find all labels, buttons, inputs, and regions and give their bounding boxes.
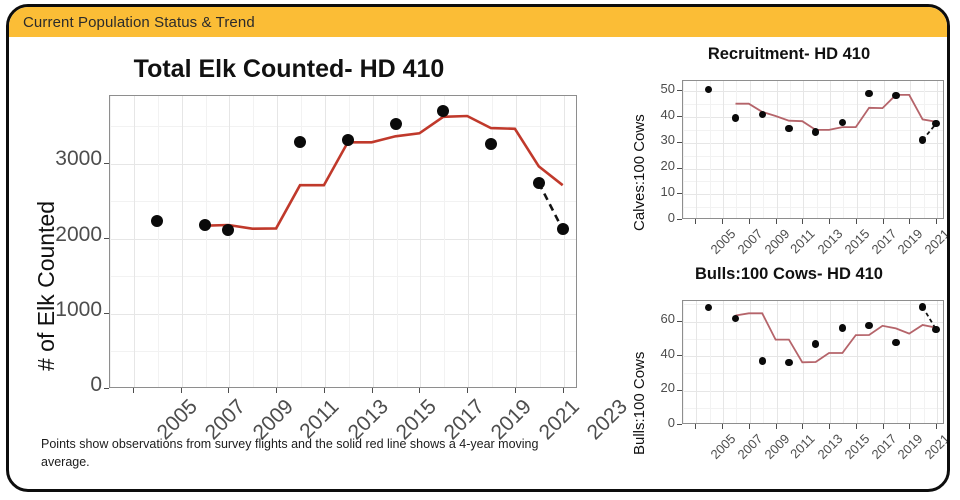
x-tick-mark (563, 388, 564, 393)
x-tick-mark (181, 388, 182, 393)
x-tick-label: 2023 (948, 431, 950, 462)
y-tick-label: 50 (649, 81, 675, 96)
data-point (932, 326, 939, 333)
x-tick-mark (802, 219, 803, 224)
data-point (437, 105, 449, 117)
x-tick-mark (802, 424, 803, 429)
data-point (785, 125, 792, 132)
x-tick-label: 2023 (948, 226, 950, 257)
trend-line (736, 313, 937, 362)
page-title: Current Population Status & Trend (9, 14, 255, 31)
y-tick-label: 40 (649, 346, 675, 361)
y-tick-label: 40 (649, 107, 675, 122)
y-tick-mark (104, 238, 109, 239)
data-point (919, 303, 926, 310)
y-tick-mark (677, 116, 682, 117)
x-tick-mark (909, 424, 910, 429)
x-tick-mark (515, 388, 516, 393)
x-tick-mark (776, 219, 777, 224)
x-tick-mark (829, 424, 830, 429)
y-tick-mark (104, 388, 109, 389)
x-tick-mark (776, 424, 777, 429)
trend-line (205, 116, 563, 229)
y-tick-mark (677, 193, 682, 194)
y-tick-label: 1000 (28, 298, 102, 322)
y-tick-mark (677, 90, 682, 91)
x-tick-mark (228, 388, 229, 393)
x-tick-mark (695, 219, 696, 224)
data-point (342, 134, 354, 146)
x-tick-mark (722, 219, 723, 224)
x-tick-mark (856, 424, 857, 429)
x-tick-mark (909, 219, 910, 224)
x-tick-mark (829, 219, 830, 224)
data-point (759, 357, 766, 364)
y-tick-label: 0 (649, 210, 675, 225)
dashed-connector-line (539, 183, 563, 230)
x-tick-mark (936, 424, 937, 429)
y-tick-label: 10 (649, 184, 675, 199)
y-tick-label: 0 (28, 373, 102, 397)
x-tick-mark (467, 388, 468, 393)
x-tick-mark (695, 424, 696, 429)
data-point (151, 215, 163, 227)
y-tick-mark (677, 390, 682, 391)
data-point (919, 136, 926, 143)
x-tick-mark (722, 424, 723, 429)
y-tick-mark (104, 163, 109, 164)
y-tick-label: 20 (649, 380, 675, 395)
x-tick-mark (133, 388, 134, 393)
chart-recruitment: Recruitment- HD 410 Calves:100 Cows 0102… (619, 41, 950, 256)
y-tick-label: 2000 (28, 223, 102, 247)
data-point (932, 120, 939, 127)
x-tick-mark (936, 219, 937, 224)
x-tick-mark (372, 388, 373, 393)
x-tick-mark (883, 424, 884, 429)
data-point (892, 92, 899, 99)
x-tick-mark (883, 219, 884, 224)
y-tick-label: 0 (649, 415, 675, 430)
y-tick-label: 30 (649, 132, 675, 147)
y-tick-mark (677, 355, 682, 356)
y-tick-label: 20 (649, 158, 675, 173)
x-tick-mark (324, 388, 325, 393)
data-point (865, 322, 872, 329)
data-point (732, 114, 739, 121)
slide-header-bar: Current Population Status & Trend (9, 7, 947, 37)
x-tick-mark (749, 424, 750, 429)
x-tick-mark (419, 388, 420, 393)
data-point (892, 339, 899, 346)
y-tick-mark (677, 168, 682, 169)
y-tick-mark (677, 142, 682, 143)
chart-bulls: Bulls:100 Cows- HD 410 Bulls:100 Cows 02… (619, 263, 950, 491)
data-point (390, 118, 402, 130)
data-point (785, 359, 792, 366)
y-tick-label: 60 (649, 311, 675, 326)
chart-total-elk: Total Elk Counted- HD 410 # of Elk Count… (9, 41, 609, 441)
figure-caption: Points show observations from survey fli… (41, 435, 576, 471)
data-point (759, 111, 766, 118)
x-tick-mark (276, 388, 277, 393)
x-tick-mark (856, 219, 857, 224)
data-point (485, 138, 497, 150)
slide-frame: Current Population Status & Trend Total … (6, 4, 950, 492)
data-point (199, 219, 211, 231)
data-point (812, 340, 819, 347)
y-tick-mark (677, 321, 682, 322)
data-point (812, 128, 819, 135)
data-point (533, 177, 545, 189)
data-point (839, 324, 846, 331)
y-tick-mark (677, 219, 682, 220)
y-tick-mark (677, 424, 682, 425)
x-tick-mark (749, 219, 750, 224)
y-tick-label: 3000 (28, 147, 102, 171)
y-tick-mark (104, 313, 109, 314)
